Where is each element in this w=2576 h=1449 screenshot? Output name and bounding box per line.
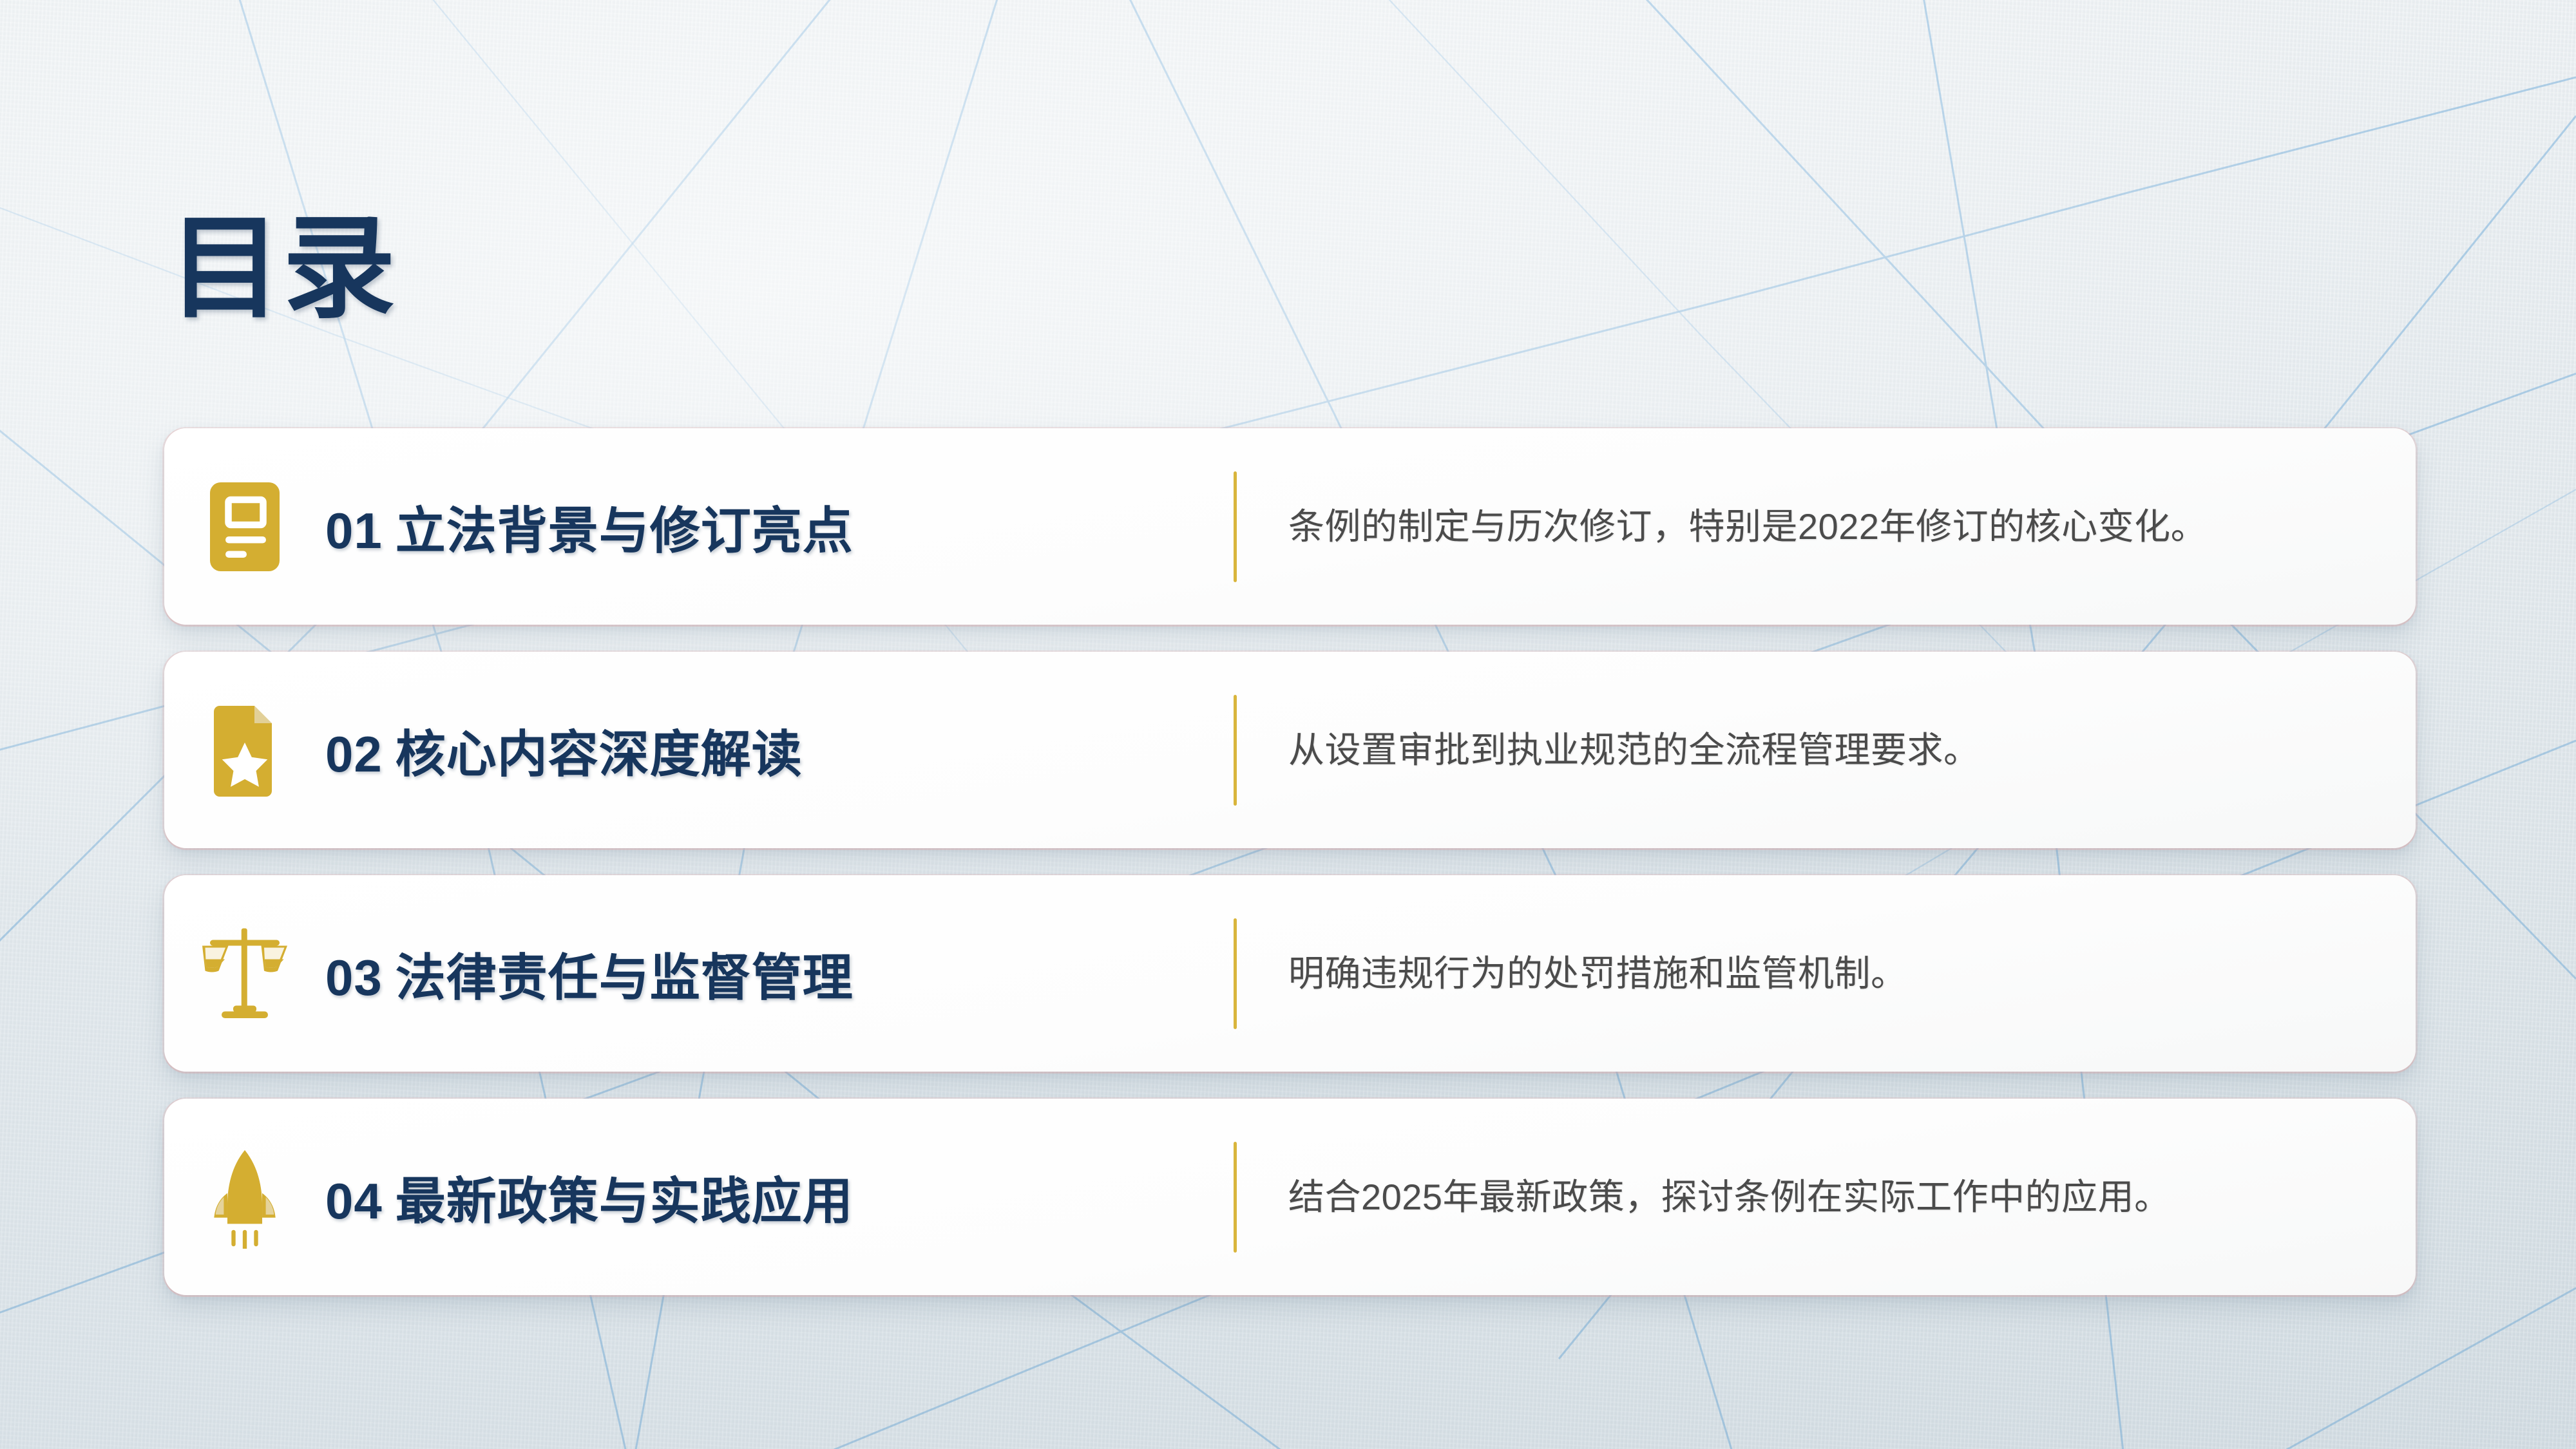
toc-card-number: 03 xyxy=(325,949,383,1006)
toc-card-number: 04 xyxy=(325,1173,383,1229)
toc-card-heading: 02核心内容深度解读 xyxy=(325,714,1234,786)
toc-card-02[interactable]: 02核心内容深度解读 从设置审批到执业规范的全流程管理要求。 xyxy=(164,652,2416,848)
toc-card-01[interactable]: 01立法背景与修订亮点 条例的制定与历次修订，特别是2022年修订的核心变化。 xyxy=(164,428,2416,625)
toc-card-heading: 04最新政策与实践应用 xyxy=(325,1161,1234,1233)
toc-card-number: 01 xyxy=(325,502,383,559)
toc-card-title: 立法背景与修订亮点 xyxy=(396,502,854,559)
toc-card-number: 02 xyxy=(325,726,383,782)
toc-card-description: 明确违规行为的处罚措施和监管机制。 xyxy=(1237,949,2416,998)
toc-card-list: 01立法背景与修订亮点 条例的制定与历次修订，特别是2022年修订的核心变化。 … xyxy=(164,428,2416,1295)
scales-of-justice-icon xyxy=(164,922,325,1025)
document-lines-icon xyxy=(164,478,325,575)
toc-card-heading: 01立法背景与修订亮点 xyxy=(325,491,1234,563)
toc-card-title: 核心内容深度解读 xyxy=(396,726,803,782)
rocket-icon xyxy=(164,1146,325,1249)
toc-card-description: 从设置审批到执业规范的全流程管理要求。 xyxy=(1237,726,2416,775)
slide-root: 目录 01立法背景与修订亮点 条例的制定与历次修订，特别是2022年修订的核心变… xyxy=(0,0,2576,1449)
toc-card-title: 法律责任与监督管理 xyxy=(396,949,854,1006)
toc-card-03[interactable]: 03法律责任与监督管理 明确违规行为的处罚措施和监管机制。 xyxy=(164,875,2416,1072)
toc-card-description: 结合2025年最新政策，探讨条例在实际工作中的应用。 xyxy=(1237,1173,2416,1222)
toc-card-description: 条例的制定与历次修订，特别是2022年修订的核心变化。 xyxy=(1237,502,2416,551)
toc-card-04[interactable]: 04最新政策与实践应用 结合2025年最新政策，探讨条例在实际工作中的应用。 xyxy=(164,1099,2416,1295)
toc-card-title: 最新政策与实践应用 xyxy=(396,1173,854,1229)
document-star-icon xyxy=(164,701,325,799)
toc-card-heading: 03法律责任与监督管理 xyxy=(325,938,1234,1010)
page-title: 目录 xyxy=(169,213,397,325)
